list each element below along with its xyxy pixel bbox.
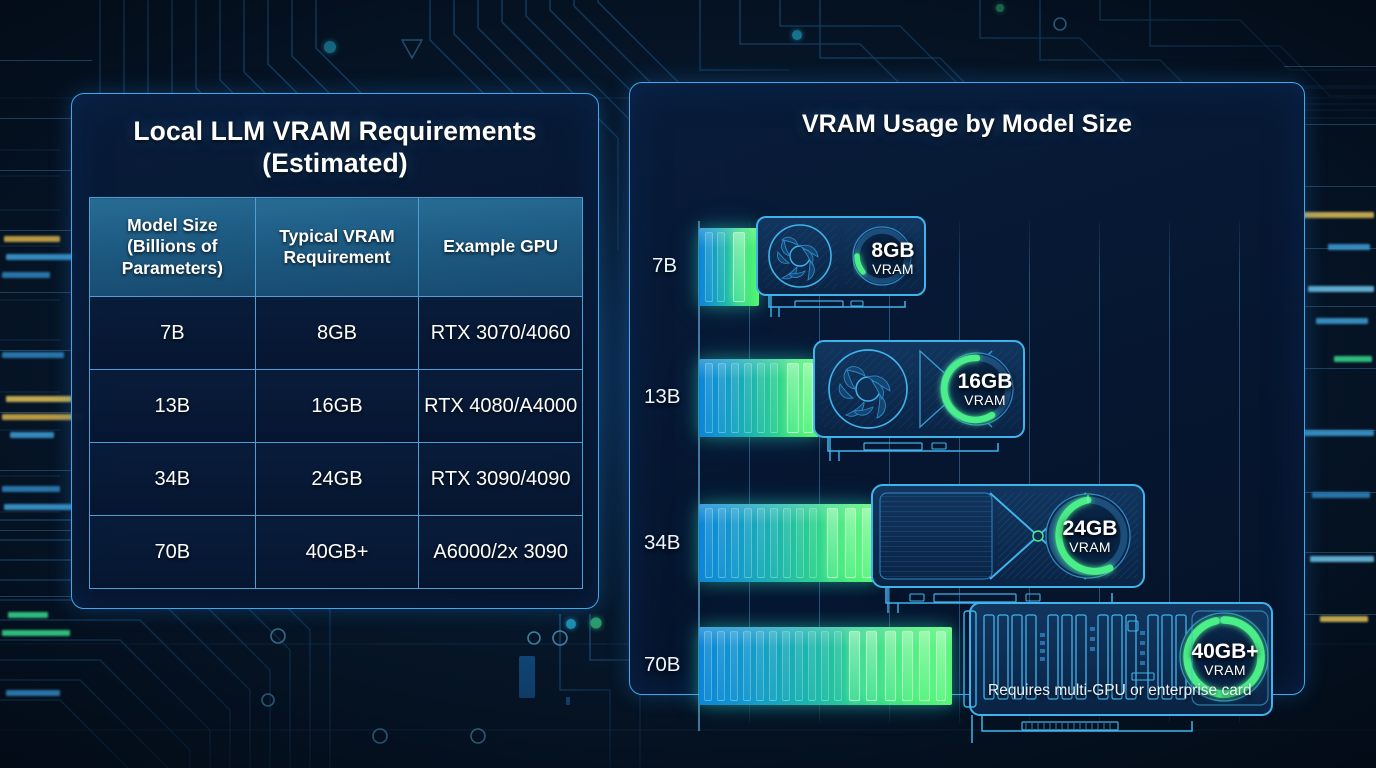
table-row: 34B 24GB RTX 3090/4090 — [90, 443, 583, 516]
cell-vram: 8GB — [255, 297, 419, 370]
dual-fan-gpu-icon-13b — [812, 337, 1030, 465]
header-text: Requirement — [283, 247, 390, 267]
cell-model-size: 34B — [90, 443, 256, 516]
cell-gpu: RTX 3090/4090 — [419, 443, 583, 516]
gridline — [959, 221, 960, 723]
enterprise-server-gpu-icon-70b — [962, 597, 1280, 747]
bar-34b — [699, 504, 877, 582]
header-text: Parameters) — [122, 258, 223, 278]
cell-vram: 40GB+ — [255, 516, 419, 589]
table-header-row: Model Size (Billions of Parameters) Typi… — [90, 198, 583, 297]
category-label-70b: 70B — [644, 653, 680, 677]
header-text: Model Size — [127, 215, 217, 235]
bar-fill — [699, 228, 759, 306]
cell-model-size: 13B — [90, 370, 256, 443]
infographic-canvas: Local LLM VRAM Requirements (Estimated) … — [0, 0, 1376, 768]
column-header-vram: Typical VRAM Requirement — [255, 198, 419, 297]
header-text: Typical VRAM — [279, 226, 394, 246]
table-row: 70B 40GB+ A6000/2x 3090 — [90, 516, 583, 589]
vram-usage-bar-chart: 7B — [630, 143, 1304, 694]
bar-7b — [699, 228, 759, 306]
bar-13b — [699, 359, 819, 437]
vram-requirements-table: Model Size (Billions of Parameters) Typi… — [89, 197, 583, 589]
header-text: (Billions of — [127, 236, 217, 256]
header-text: Example GPU — [443, 236, 558, 256]
bar-fill — [699, 504, 877, 582]
column-header-model-size: Model Size (Billions of Parameters) — [90, 198, 256, 297]
category-label-13b: 13B — [644, 385, 680, 409]
bar-fill — [699, 359, 819, 437]
cell-gpu: RTX 3070/4060 — [419, 297, 583, 370]
category-label-7b: 7B — [652, 254, 677, 278]
table-title-line2: (Estimated) — [262, 148, 407, 178]
table-panel: Local LLM VRAM Requirements (Estimated) … — [71, 93, 599, 609]
cell-model-size: 70B — [90, 516, 256, 589]
table-title-line1: Local LLM VRAM Requirements — [133, 116, 536, 146]
cell-gpu: RTX 4080/A4000 — [419, 370, 583, 443]
column-header-example-gpu: Example GPU — [419, 198, 583, 297]
dual-fan-gpu-icon-7b — [755, 213, 931, 323]
cell-vram: 16GB — [255, 370, 419, 443]
chart-footnote: Requires multi-GPU or enterprise card — [988, 682, 1252, 700]
cell-model-size: 7B — [90, 297, 256, 370]
cell-gpu: A6000/2x 3090 — [419, 516, 583, 589]
table-panel-title: Local LLM VRAM Requirements (Estimated) — [72, 94, 598, 179]
chart-panel: VRAM Usage by Model Size 7B — [629, 82, 1305, 695]
category-label-34b: 34B — [644, 531, 680, 555]
table-row: 7B 8GB RTX 3070/4060 — [90, 297, 583, 370]
bar-70b — [699, 627, 952, 705]
table-row: 13B 16GB RTX 4080/A4000 — [90, 370, 583, 443]
cell-vram: 24GB — [255, 443, 419, 516]
bar-fill — [699, 627, 952, 705]
chart-panel-title: VRAM Usage by Model Size — [630, 83, 1304, 139]
